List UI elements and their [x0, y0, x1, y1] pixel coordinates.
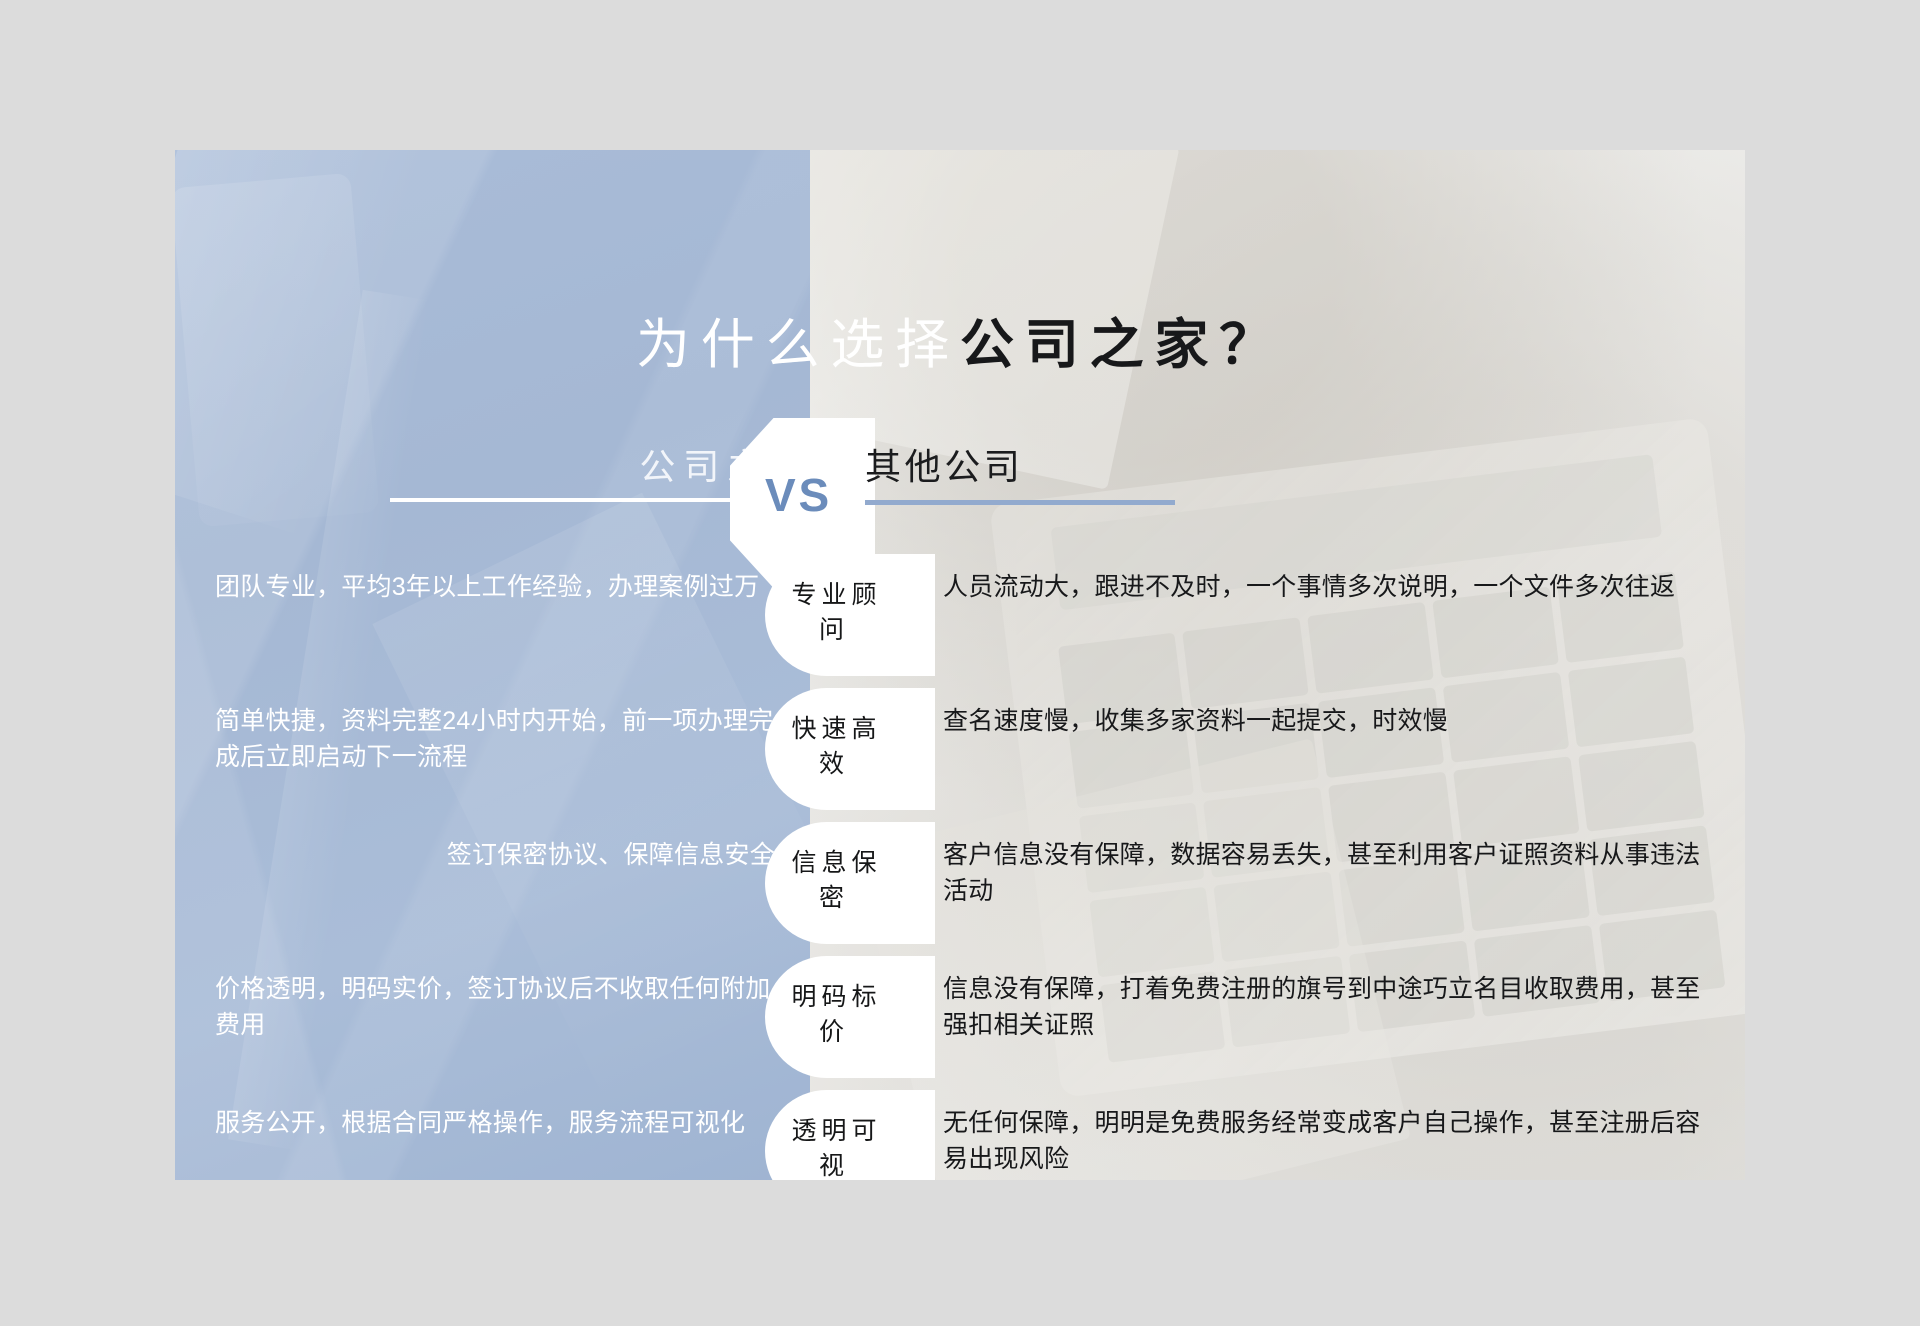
row-ours-text: 简单快捷，资料完整24小时内开始，前一项办理完成后立即启动下一流程 [215, 704, 775, 775]
comparison-card: 为什么选择公司之家？ 公司之家 VS 其他公司 团队专业，平均3年以上工作经验，… [175, 150, 1745, 1180]
row-theirs-text: 人员流动大，跟进不及时，一个事情多次说明，一个文件多次往返 [943, 570, 1705, 606]
vs-label: VS [730, 468, 867, 522]
row-key-label: 专业顾问 [775, 578, 893, 647]
row-theirs-text: 客户信息没有保障，数据容易丢失，甚至利用客户证照资料从事违法活动 [943, 838, 1705, 909]
page-title: 为什么选择公司之家？ [175, 318, 1745, 372]
row-ours-text: 服务公开，根据合同严格操作，服务流程可视化 [215, 1106, 775, 1142]
row-key-label: 透明可视 [775, 1114, 893, 1180]
row-ours-text: 团队专业，平均3年以上工作经验，办理案例过万 [215, 570, 775, 606]
header-right-label: 其他公司 [865, 438, 1023, 490]
table-row: 服务公开，根据合同严格操作，服务流程可视化 透明可视 无任何保障，明明是免费服务… [175, 1084, 1745, 1180]
title-dark-part: 公司之家？ [960, 315, 1284, 375]
row-key-label: 明码标价 [775, 980, 893, 1049]
header-right-underline [865, 500, 1175, 505]
table-row: 签订保密协议、保障信息安全 信息保密 客户信息没有保障，数据容易丢失，甚至利用客… [175, 816, 1745, 950]
table-row: 团队专业，平均3年以上工作经验，办理案例过万 专业顾问 人员流动大，跟进不及时，… [175, 548, 1745, 682]
title-white-part: 为什么选择 [636, 315, 960, 375]
row-theirs-text: 信息没有保障，打着免费注册的旗号到中途巧立名目收取费用，甚至强扣相关证照 [943, 972, 1705, 1043]
versus-header: 公司之家 VS 其他公司 [175, 428, 1745, 536]
table-row: 简单快捷，资料完整24小时内开始，前一项办理完成后立即启动下一流程 快速高效 查… [175, 682, 1745, 816]
row-theirs-text: 查名速度慢，收集多家资料一起提交，时效慢 [943, 704, 1705, 740]
comparison-rows: 团队专业，平均3年以上工作经验，办理案例过万 专业顾问 人员流动大，跟进不及时，… [175, 548, 1745, 1180]
table-row: 价格透明，明码实价，签订协议后不收取任何附加费用 明码标价 信息没有保障，打着免… [175, 950, 1745, 1084]
row-key-label: 信息保密 [775, 846, 893, 915]
row-ours-text: 价格透明，明码实价，签订协议后不收取任何附加费用 [215, 972, 775, 1043]
row-theirs-text: 无任何保障，明明是免费服务经常变成客户自己操作，甚至注册后容易出现风险 [943, 1106, 1705, 1177]
row-key-label: 快速高效 [775, 712, 893, 781]
row-ours-text: 签订保密协议、保障信息安全 [215, 838, 775, 874]
